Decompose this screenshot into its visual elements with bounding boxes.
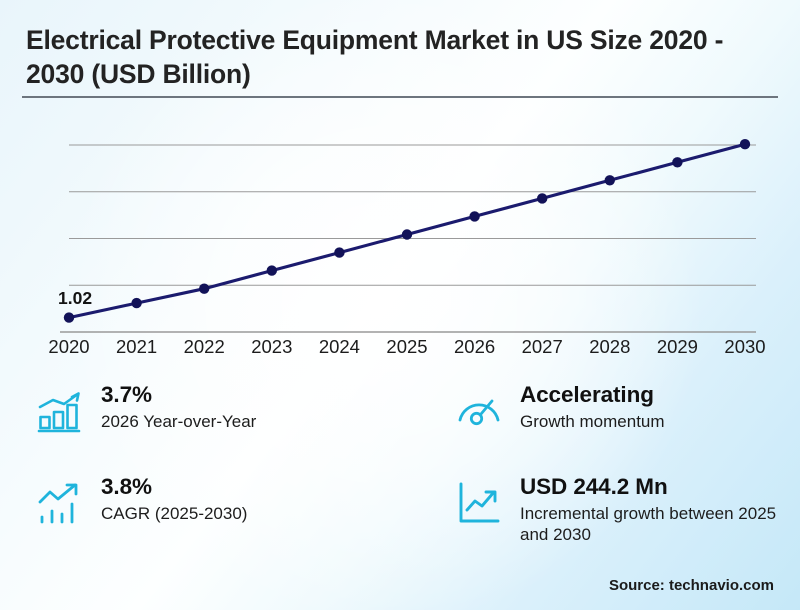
- data-point-label: 1.02: [58, 288, 92, 309]
- stat-card-incremental-growth: USD 244.2 Mn Incremental growth between …: [455, 474, 800, 545]
- bar-chart-growth-icon: [36, 387, 84, 435]
- stat-value: USD 244.2 Mn: [520, 474, 800, 501]
- stat-text-group: 3.8% CAGR (2025-2030): [101, 474, 247, 524]
- x-axis-label: 2025: [386, 336, 427, 358]
- x-axis-label: 2030: [724, 336, 765, 358]
- stat-value: 3.7%: [101, 382, 256, 409]
- stat-text-group: USD 244.2 Mn Incremental growth between …: [520, 474, 800, 545]
- stat-label: Incremental growth between 2025 and 2030: [520, 503, 800, 546]
- x-axis-label: 2023: [251, 336, 292, 358]
- stat-label: 2026 Year-over-Year: [101, 411, 256, 432]
- stat-card-growth-momentum: Accelerating Growth momentum: [455, 382, 665, 435]
- stat-label: CAGR (2025-2030): [101, 503, 247, 524]
- chart-gridlines: [69, 145, 756, 285]
- stats-grid: 3.7% 2026 Year-over-Year 3.8% CAGR (2025…: [0, 378, 800, 570]
- x-axis-label: 2027: [522, 336, 563, 358]
- stat-value: Accelerating: [520, 382, 665, 409]
- title-divider: [22, 96, 778, 98]
- axis-trend-up-icon: [455, 479, 503, 527]
- x-axis-label: 2026: [454, 336, 495, 358]
- stat-label: Growth momentum: [520, 411, 665, 432]
- x-axis-label: 2028: [589, 336, 630, 358]
- chart-plot-svg: [0, 104, 800, 362]
- x-axis-label: 2021: [116, 336, 157, 358]
- line-chart: 2020202120222023202420252026202720282029…: [0, 104, 800, 362]
- chart-x-axis-labels: 2020202120222023202420252026202720282029…: [0, 336, 800, 362]
- stat-card-year-over-year: 3.7% 2026 Year-over-Year: [36, 382, 256, 435]
- stat-value: 3.8%: [101, 474, 247, 501]
- x-axis-label: 2022: [184, 336, 225, 358]
- stat-card-cagr: 3.8% CAGR (2025-2030): [36, 474, 247, 527]
- infographic-canvas: Electrical Protective Equipment Market i…: [0, 0, 800, 610]
- stat-text-group: Accelerating Growth momentum: [520, 382, 665, 432]
- stat-text-group: 3.7% 2026 Year-over-Year: [101, 382, 256, 432]
- x-axis-label: 2020: [48, 336, 89, 358]
- bar-chart-arrow-up-icon: [36, 479, 84, 527]
- source-attribution: Source: technavio.com: [609, 577, 774, 594]
- x-axis-label: 2029: [657, 336, 698, 358]
- speedometer-icon: [455, 387, 503, 435]
- x-axis-label: 2024: [319, 336, 360, 358]
- page-title: Electrical Protective Equipment Market i…: [26, 24, 766, 92]
